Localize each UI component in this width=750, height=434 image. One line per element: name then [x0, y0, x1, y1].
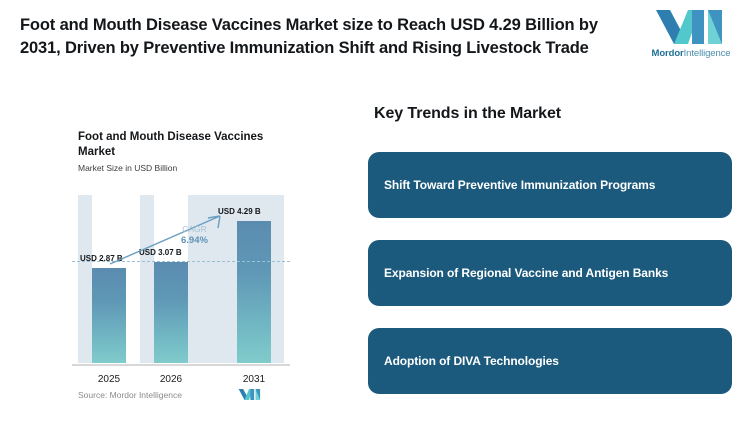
chart-subtitle: Market Size in USD Billion — [78, 163, 177, 173]
chart-title: Foot and Mouth Disease Vaccines Market — [78, 130, 283, 160]
chart-background-band — [140, 195, 154, 363]
bar-value-label-2025: USD 2.87 B — [80, 254, 123, 263]
logo-word-light: Intelligence — [684, 48, 731, 59]
trend-card-1[interactable]: Expansion of Regional Vaccine and Antige… — [368, 240, 732, 306]
logo-word-bold: Mordor — [652, 48, 684, 59]
mordor-logo-mark — [654, 8, 728, 46]
key-trends-heading: Key Trends in the Market — [374, 105, 561, 123]
trend-card-label: Adoption of DIVA Technologies — [384, 354, 559, 368]
bar-2031 — [237, 221, 271, 363]
key-trends-panel: Key Trends in the Market Shift Toward Pr… — [362, 100, 742, 410]
x-axis-tick-2026: 2026 — [149, 374, 193, 385]
x-axis-tick-2025: 2025 — [87, 374, 131, 385]
market-size-chart: Foot and Mouth Disease Vaccines Market M… — [0, 100, 350, 420]
chart-source-row: Source: Mordor Intelligence — [78, 388, 288, 404]
chart-plot-area: USD 2.87 B USD 3.07 B USD 4.29 B 2025 20… — [78, 195, 288, 363]
trend-card-label: Expansion of Regional Vaccine and Antige… — [384, 266, 668, 280]
trend-card-0[interactable]: Shift Toward Preventive Immunization Pro… — [368, 152, 732, 218]
cagr-label: CAGR — [181, 223, 208, 235]
mordor-mark-small-icon — [238, 388, 262, 401]
trend-card-2[interactable]: Adoption of DIVA Technologies — [368, 328, 732, 394]
cagr-annotation: CAGR 6.94% — [181, 223, 208, 247]
chart-background-band — [78, 195, 92, 363]
bar-value-label-2026: USD 3.07 B — [139, 248, 182, 257]
page-title: Foot and Mouth Disease Vaccines Market s… — [20, 14, 610, 60]
bar-2025 — [92, 268, 126, 363]
x-axis-tick-2031: 2031 — [232, 374, 276, 385]
source-text: Source: Mordor Intelligence — [78, 390, 182, 400]
trend-card-label: Shift Toward Preventive Immunization Pro… — [384, 178, 655, 192]
logo-wordmark: MordorIntelligence — [645, 48, 737, 59]
bar-value-label-2031: USD 4.29 B — [218, 207, 261, 216]
page-header: Foot and Mouth Disease Vaccines Market s… — [0, 0, 750, 92]
brand-logo: MordorIntelligence — [645, 8, 737, 66]
chart-baseline-axis — [72, 364, 290, 366]
cagr-value: 6.94% — [181, 235, 208, 247]
bar-2026 — [154, 262, 188, 363]
